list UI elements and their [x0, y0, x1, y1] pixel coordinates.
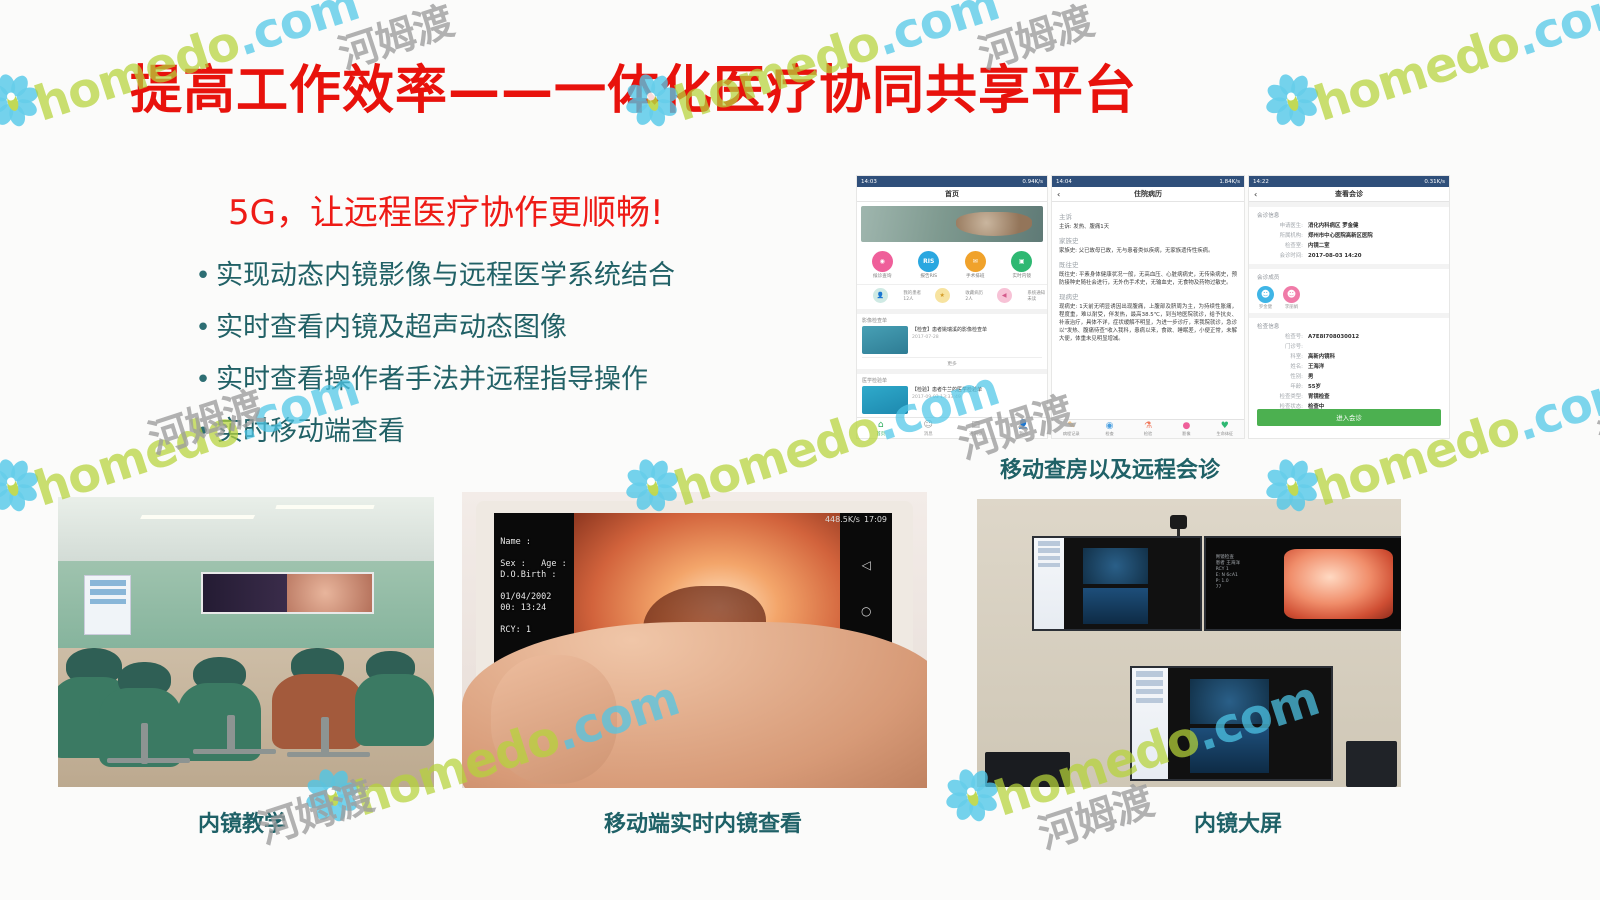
toolbar-label: 病程记录 [1063, 431, 1080, 436]
group-title: 会诊信息 [1257, 211, 1441, 219]
toolbar-label: 生命体征 [1216, 431, 1233, 436]
bullet-text: 实现动态内镜影像与远程医学系统结合 [216, 258, 675, 294]
item-date: 2017-07-28 [912, 334, 987, 342]
toolbar-label: 检查 [1105, 431, 1113, 436]
section-text: 主诉: 发热、腹痛1天 [1059, 223, 1237, 231]
field-key: 门诊号: [1257, 343, 1308, 352]
phone-screenshot-inpatient-record: 14:04 1.84K/s ‹ 住院病历 主诉 主诉: 发热、腹痛1天 家族史 … [1052, 176, 1244, 438]
endoscope-image [1284, 549, 1393, 618]
secondary-icon-item[interactable]: ★ 收藏病历 2人 [921, 288, 983, 305]
bullet-marker-icon: • [190, 362, 216, 398]
field-value: 2017-08-03 14:20 [1308, 252, 1362, 261]
caption-mobile-endoscope: 移动端实时内镜查看 [604, 806, 802, 838]
back-triangle-icon[interactable]: ◁ [862, 558, 871, 572]
ris-report-icon: RIS [918, 251, 939, 272]
secondary-icon-item[interactable]: 👤 我的患者 12人 [859, 288, 921, 305]
watermark-brand-part1: homedo [1308, 14, 1526, 132]
nav-bar: ‹ 住院病历 [1052, 187, 1244, 202]
tab-label: 我的 [1019, 432, 1028, 437]
display-bottom [1130, 666, 1334, 781]
consult-members-group: 会诊成员 ☻ 罗金健 ☻ 李丽娟 [1249, 264, 1449, 313]
flask-icon: ⚗ [1129, 421, 1167, 431]
page-title: 提高工作效率——一体化医疗协同共享平台 [130, 48, 1130, 123]
bullet-marker-icon: • [190, 310, 216, 346]
field-row: 检查号: A7E8I708030012 [1257, 333, 1441, 342]
imaging-icon: ● [1167, 421, 1205, 431]
list-item[interactable]: 【检验】患者牛兰的医学检验单 2017-09-03 13:33:49 [862, 386, 1042, 417]
field-row: 门诊号: [1257, 343, 1441, 352]
imaging-thumbnail-icon [862, 326, 908, 354]
group-title: 检查信息 [1257, 322, 1441, 330]
nav-title: 查看会诊 [1335, 189, 1363, 199]
pencil-icon: ✎ [1052, 421, 1090, 431]
watermark-brand-cn: 河姆渡 [1590, 374, 1600, 465]
watermark-homedo: homedo.com [1260, 0, 1600, 148]
live-endoscope-icon: ▣ [1011, 251, 1032, 272]
scope-overlay-text: 胃镜检查患者 王海洋RCY 1E: N 6cA1P: 1.077 [1216, 555, 1240, 591]
status-bar: 448.5K/s 17:09 [494, 513, 892, 526]
bottom-tab-bar: ⌂ 首页 ☺ 消息 ▤ 通讯录 👤 我的 [857, 417, 1047, 438]
wall-display [201, 572, 374, 614]
toolbar-vitals[interactable]: ♥ 生命体征 [1206, 421, 1244, 437]
desk-monitor-right [1346, 741, 1397, 787]
field-key: 年龄: [1257, 383, 1308, 392]
classroom-scene [58, 497, 434, 787]
quick-icon-label: 候诊查询 [859, 274, 906, 280]
item-title: 【检验】患者牛兰的医学检验单 [912, 386, 982, 394]
field-value: A7E8I708030012 [1308, 333, 1359, 342]
field-row: 姓名: 王海洋 [1257, 363, 1441, 372]
list-item: • 实时移动端查看 [190, 414, 830, 450]
field-value: 王海洋 [1308, 363, 1324, 372]
field-key: 科室: [1257, 353, 1308, 362]
quick-icon-item[interactable]: ◉ 候诊查询 [859, 251, 906, 280]
toolbar-lab[interactable]: ⚗ 检验 [1129, 421, 1167, 437]
tab-profile[interactable]: 👤 我的 [1000, 418, 1048, 438]
bullet-list: • 实现动态内镜影像与远程医学系统结合 • 实时查看内镜及超声动态图像 • 实时… [190, 258, 830, 466]
bullet-text: 实时查看内镜及超声动态图像 [216, 310, 567, 346]
secondary-icon-row: 👤 我的患者 12人 ★ 收藏病历 2人 ◀ 系统通知 未读 [857, 284, 1047, 309]
quick-icon-label: 报告RIS [906, 274, 953, 280]
surgery-schedule-icon: ✉ [965, 251, 986, 272]
quick-icon-item[interactable]: ▣ 实时内镜 [999, 251, 1046, 280]
profile-icon: 👤 [1000, 420, 1048, 431]
candidate-query-icon: ◉ [872, 251, 893, 272]
photo-endoscopy-big-screen: 胃镜检查患者 王海洋RCY 1E: N 6cA1P: 1.077 [977, 499, 1401, 787]
field-key: 检查室: [1257, 242, 1308, 251]
lab-thumbnail-icon [862, 386, 908, 414]
list-item[interactable]: ☻ 罗金健 [1257, 286, 1274, 310]
desk-monitor-left [985, 752, 1070, 787]
watermark-brand-part2: .com [1509, 0, 1600, 67]
toolbar-progress-note[interactable]: ✎ 病程记录 [1052, 421, 1090, 437]
phone-screenshot-consultation: 14:22 0.31K/s ‹ 查看会诊 会诊信息 申请医生: 消化内科病区 罗… [1249, 176, 1449, 438]
field-value: 胃镜检查 [1308, 393, 1330, 402]
field-value: 55岁 [1308, 383, 1321, 392]
field-value: 男 [1308, 373, 1313, 382]
field-row: 所属机构: 郑州市中心医院高新区医院 [1257, 232, 1441, 241]
watermark-brand-part2: .com [1509, 360, 1600, 452]
flower-logo-icon [1256, 66, 1316, 126]
heart-icon: ♥ [1206, 421, 1244, 431]
field-key: 会诊时间: [1257, 252, 1308, 261]
enter-consultation-button[interactable]: 进入会诊 [1257, 409, 1441, 426]
record-toolbar: ✎ 病程记录 ◉ 检查 ⚗ 检验 ● 影像 ♥ 生命体征 [1052, 419, 1244, 438]
banner-image [861, 206, 1043, 242]
item-date: 2017-09-03 13:33:49 [912, 394, 982, 402]
starred-records-icon: ★ [935, 288, 950, 303]
status-right: 0.94K/s [1022, 179, 1043, 185]
video-conference-panel [1064, 538, 1200, 629]
subtitle: 5G，让远程医疗协作更顺畅! [228, 185, 664, 234]
caption-mobile-rounds: 移动查房以及远程会诊 [1000, 452, 1220, 484]
secondary-icon-sub: 2人 [965, 297, 983, 303]
consult-info-group: 会诊信息 申请医生: 消化内科病区 罗金健 所属机构: 郑州市中心医院高新区医院… [1249, 202, 1449, 264]
list-item: • 实现动态内镜影像与远程医学系统结合 [190, 258, 830, 294]
field-row: 检查室: 内镜二室 [1257, 242, 1441, 251]
field-key: 性别: [1257, 373, 1308, 382]
record-body: 主诉 主诉: 发热、腹痛1天 家族史 家族史: 父已故母已故，无与患者类似疾病，… [1052, 202, 1244, 348]
field-row: 检查类型: 胃镜检查 [1257, 393, 1441, 402]
list-item: • 实时查看内镜及超声动态图像 [190, 310, 830, 346]
tab-label: 消息 [924, 432, 933, 437]
imaging-order-section: 影像检查单 【检查】患者姚瑞溪的影像检查单 2017-07-28 更多 [857, 309, 1047, 369]
field-row: 科室: 高新内镜科 [1257, 353, 1441, 362]
ceiling [58, 497, 434, 561]
tab-label: 通讯录 [969, 432, 982, 437]
status-time: 14:04 [1056, 179, 1072, 185]
quick-icon-label: 手术排班 [952, 274, 999, 280]
status-time: 14:03 [861, 179, 877, 185]
quick-icon-label: 实时内镜 [999, 274, 1046, 280]
field-value: 内镜二室 [1308, 242, 1330, 251]
status-time: 17:09 [864, 515, 887, 524]
quick-icon-grid: ◉ 候诊查询 RIS 报告RIS ✉ 手术排班 ▣ 实时内镜 [857, 246, 1047, 284]
tab-label: 首页 [876, 432, 885, 437]
field-value: 高新内镜科 [1308, 353, 1335, 362]
status-bar: 14:04 1.84K/s [1052, 176, 1244, 187]
tab-home[interactable]: ⌂ 首页 [857, 418, 905, 438]
chevron-left-icon[interactable]: ‹ [1254, 190, 1257, 199]
field-value: 消化内科病区 罗金健 [1308, 222, 1358, 231]
secondary-icon-label: 收藏病历 [965, 291, 983, 297]
status-bar: 14:03 0.94K/s [857, 176, 1047, 187]
field-row: 会诊时间: 2017-08-03 14:20 [1257, 252, 1441, 261]
member-name: 罗金健 [1257, 304, 1274, 310]
section-heading: 现病史 [1059, 291, 1237, 301]
secondary-icon-label: 系统通知 [1027, 291, 1045, 297]
toolbar-exam[interactable]: ◉ 检查 [1090, 421, 1128, 437]
section-title: 医学检验单 [862, 377, 1042, 384]
video-tile-remote [1190, 679, 1269, 723]
caption-endoscopy-big-screen: 内镜大屏 [1194, 806, 1282, 838]
photo-endoscopy-teaching [58, 497, 434, 787]
quick-icon-item[interactable]: RIS 报告RIS [906, 251, 953, 280]
field-key: 姓名: [1257, 363, 1308, 372]
nav-title: 住院病历 [1134, 189, 1162, 199]
hand [462, 622, 927, 788]
field-key: 所属机构: [1257, 232, 1308, 241]
bullet-marker-icon: • [190, 258, 216, 294]
bullet-marker-icon: • [190, 414, 216, 450]
more-button[interactable]: 更多 [862, 357, 1042, 369]
nav-bar: 首页 [857, 187, 1047, 202]
status-right: 0.31K/s [1424, 179, 1445, 185]
field-key: 申请医生: [1257, 222, 1308, 231]
software-panel [1034, 538, 1064, 629]
exam-icon: ◉ [1090, 421, 1128, 431]
photo-mobile-endoscope-view: Name : Sex : Age : D.O.Birth : 01/04/200… [462, 492, 927, 788]
video-conference-panel [1168, 668, 1332, 779]
section-heading: 既往史 [1059, 259, 1237, 269]
display-right: 胃镜检查患者 王海洋RCY 1E: N 6cA1P: 1.077 [1204, 536, 1401, 631]
status-bar: 14:22 0.31K/s [1249, 176, 1449, 187]
field-row: 申请医生: 消化内科病区 罗金健 [1257, 222, 1441, 231]
wall-poster [84, 575, 131, 635]
nav-title: 首页 [945, 189, 959, 199]
software-panel [1132, 668, 1168, 779]
secondary-icon-item[interactable]: ◀ 系统通知 未读 [983, 288, 1045, 305]
toolbar-label: 影像 [1182, 431, 1190, 436]
display-left [1032, 536, 1202, 631]
group-title: 会诊成员 [1257, 273, 1441, 281]
list-item[interactable]: ☻ 李丽娟 [1283, 286, 1300, 310]
quick-icon-item[interactable]: ✉ 手术排班 [952, 251, 999, 280]
field-key: 检查类型: [1257, 393, 1308, 402]
list-item[interactable]: 【检查】患者姚瑞溪的影像检查单 2017-07-28 [862, 326, 1042, 357]
list-item: • 实时查看操作者手法并远程指导操作 [190, 362, 830, 398]
section-text: 既往史: 平素身体健康状况一般，无高血压、心脏病病史，无传染病史，预防接种史随社… [1059, 271, 1237, 287]
tab-messages[interactable]: ☺ 消息 [905, 418, 953, 438]
section-heading: 家族史 [1059, 235, 1237, 245]
caption-endoscopy-teaching: 内镜教学 [198, 806, 286, 838]
video-tile-local [1190, 728, 1269, 772]
nav-bar: ‹ 查看会诊 [1249, 187, 1449, 202]
video-tile-remote [1083, 548, 1148, 584]
message-icon: ☺ [905, 420, 953, 431]
flower-logo-icon [0, 451, 36, 511]
secondary-icon-sub: 12人 [903, 297, 921, 303]
section-title: 影像检查单 [862, 317, 1042, 324]
flower-logo-icon [0, 66, 36, 126]
toolbar-imaging[interactable]: ● 影像 [1167, 421, 1205, 437]
toolbar-label: 检验 [1144, 431, 1152, 436]
section-text: 家族史: 父已故母已故，无与患者类似疾病，无家族遗传性疾病。 [1059, 247, 1237, 255]
bullet-text: 实时查看操作者手法并远程指导操作 [216, 362, 648, 398]
avatar: ☻ [1257, 286, 1274, 303]
phone-screenshot-home: 14:03 0.94K/s 首页 ◉ 候诊查询 RIS 报告RIS ✉ 手术排班… [857, 176, 1047, 438]
bullet-text: 实时移动端查看 [216, 414, 405, 450]
status-right: 1.84K/s [1219, 179, 1240, 185]
field-key: 检查号: [1257, 333, 1308, 342]
endoscope-panel: 胃镜检查患者 王海洋RCY 1E: N 6cA1P: 1.077 [1206, 538, 1401, 629]
field-value: 郑州市中心医院高新区医院 [1308, 232, 1373, 241]
system-notice-icon: ◀ [997, 288, 1012, 303]
item-title: 【检查】患者姚瑞溪的影像检查单 [912, 326, 987, 334]
network-speed: 448.5K/s [825, 515, 860, 524]
member-list: ☻ 罗金健 ☻ 李丽娟 [1257, 284, 1441, 311]
status-time: 14:22 [1253, 179, 1269, 185]
video-tile-local [1083, 588, 1148, 624]
home-circle-icon[interactable]: ○ [861, 604, 871, 618]
field-row: 年龄: 55岁 [1257, 383, 1441, 392]
field-row: 性别: 男 [1257, 373, 1441, 382]
chevron-left-icon[interactable]: ‹ [1057, 190, 1060, 199]
avatar: ☻ [1283, 286, 1300, 303]
secondary-icon-label: 我的患者 [903, 291, 921, 297]
contacts-icon: ▤ [952, 420, 1000, 431]
section-heading: 主诉 [1059, 211, 1237, 221]
tab-contacts[interactable]: ▤ 通讯录 [952, 418, 1000, 438]
secondary-icon-sub: 未读 [1027, 297, 1045, 303]
home-icon: ⌂ [857, 420, 905, 431]
my-patients-icon: 👤 [873, 288, 888, 303]
section-text: 现病史: 1天前无明显诱因出现腹痛，上腹部及脐周为主，为持续性胀痛，程度重，难以… [1059, 303, 1237, 343]
member-name: 李丽娟 [1283, 304, 1300, 310]
